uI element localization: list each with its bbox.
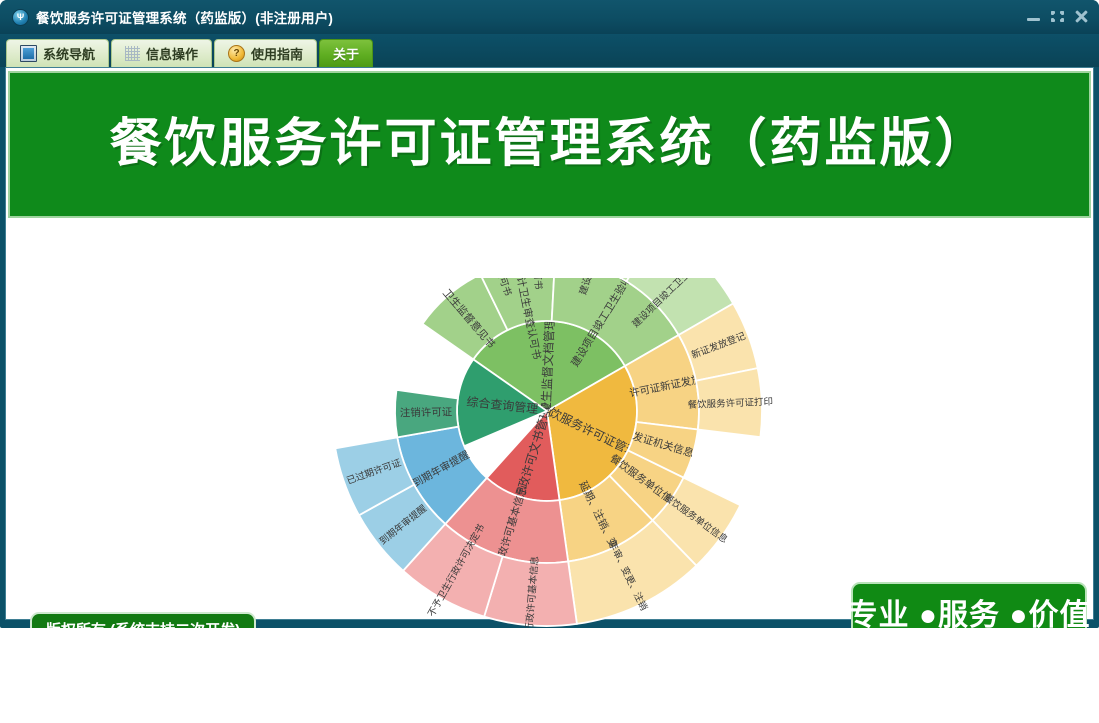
close-icon[interactable] <box>1074 9 1089 24</box>
content-panel: 餐饮服务许可证管理系统（药监版） 卫生监督文档管理卫生监督意见书建设项目设计卫生… <box>5 67 1094 620</box>
copyright-badge: 版权所有 (系统支持二次开发) <box>30 612 256 628</box>
tab-system-navigation[interactable]: 系统导航 <box>6 39 109 67</box>
sunburst-chart: 卫生监督文档管理卫生监督意见书建设项目设计卫生审查认可书建设项目设计卫生审查认可… <box>204 278 904 628</box>
tab-bar: 系统导航 信息操作 ? 使用指南 关于 <box>0 34 1099 67</box>
slogan-badge: 专业 ●服务 ●价值 <box>851 582 1087 628</box>
tab-about[interactable]: 关于 <box>319 39 373 67</box>
minimize-icon[interactable] <box>1026 9 1041 24</box>
sunburst-label: 注销许可证 <box>400 405 453 419</box>
banner: 餐饮服务许可证管理系统（药监版） <box>8 71 1091 218</box>
help-icon: ? <box>228 45 245 62</box>
tab-label: 关于 <box>333 44 359 63</box>
tab-label: 系统导航 <box>43 44 95 63</box>
sunburst-chart-area: 卫生监督文档管理卫生监督意见书建设项目设计卫生审查认可书建设项目设计卫生审查认可… <box>6 220 1093 619</box>
page-title: 餐饮服务许可证管理系统（药监版） <box>109 115 989 173</box>
app-window: Ψ 餐饮服务许可证管理系统（药监版）(非注册用户) 系统导航 信息操作 ? 使用… <box>0 0 1099 628</box>
tab-label: 信息操作 <box>146 44 198 63</box>
title-bar: Ψ 餐饮服务许可证管理系统（药监版）(非注册用户) <box>0 0 1099 34</box>
slogan-text: 专业 ●服务 ●价值 <box>848 590 1091 629</box>
navigation-icon <box>20 45 37 62</box>
tab-label: 使用指南 <box>251 44 303 63</box>
app-logo-icon: Ψ <box>13 10 28 25</box>
restore-icon[interactable] <box>1050 9 1065 24</box>
window-title: 餐饮服务许可证管理系统（药监版）(非注册用户) <box>36 7 333 27</box>
grid-icon <box>125 46 140 61</box>
window-controls <box>1026 9 1089 24</box>
tab-info-operations[interactable]: 信息操作 <box>111 39 212 67</box>
copyright-text: 版权所有 (系统支持二次开发) <box>46 619 240 628</box>
tab-user-guide[interactable]: ? 使用指南 <box>214 39 317 67</box>
